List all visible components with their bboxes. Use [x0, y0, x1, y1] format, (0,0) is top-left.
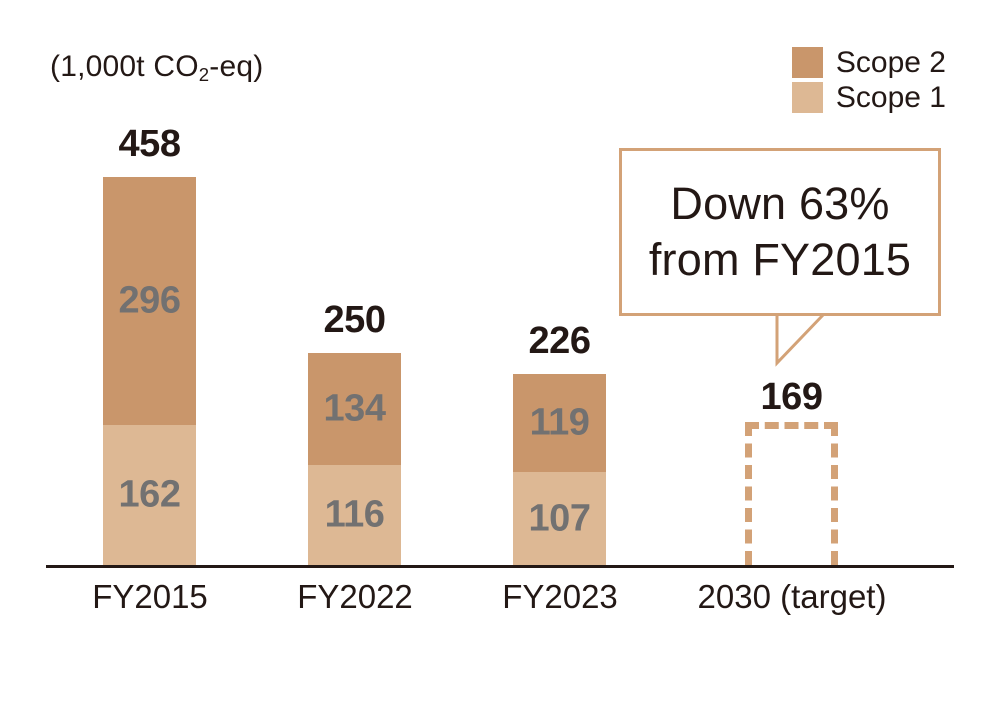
bar-total-fy2015: 458 — [78, 123, 221, 166]
unit-label-suffix: -eq) — [209, 50, 263, 83]
legend-item-scope-2: Scope 2 — [792, 47, 946, 78]
bar-total-fy2022: 250 — [283, 299, 426, 342]
callout-tail-icon — [775, 313, 845, 367]
bar-segment-value-fy2022-scope1: 116 — [308, 494, 401, 537]
callout-box: Down 63% from FY2015 — [619, 148, 941, 316]
bar-segment-value-fy2023-scope2: 119 — [513, 402, 606, 445]
bar-segment-value-fy2023-scope1: 107 — [513, 497, 606, 540]
legend: Scope 2 Scope 1 — [792, 47, 946, 113]
x-axis-label-fy2015: FY2015 — [60, 578, 240, 616]
bar-segment-fy2015-scope2: 296 — [103, 177, 196, 425]
x-axis-line — [46, 565, 954, 568]
bar-segment-fy2022-scope1: 116 — [308, 465, 401, 565]
bar-fy2022: 250 134 116 — [308, 353, 401, 565]
bar-segment-fy2023-scope1: 107 — [513, 472, 606, 565]
bar-segment-value-fy2022-scope2: 134 — [308, 388, 401, 431]
bar-total-2030-target: 169 — [720, 376, 863, 419]
bar-segment-fy2023-scope2: 119 — [513, 374, 606, 472]
bar-segment-fy2015-scope1: 162 — [103, 425, 196, 565]
legend-label-scope-1: Scope 1 — [836, 82, 946, 113]
unit-label: (1,000t CO2-eq) — [50, 50, 263, 84]
x-axis-label-fy2023: FY2023 — [470, 578, 650, 616]
bar-segment-value-fy2015-scope1: 162 — [103, 474, 196, 517]
bar-2030-target — [745, 422, 838, 565]
callout-line-2: from FY2015 — [649, 232, 911, 288]
bar-segment-value-fy2015-scope2: 296 — [103, 280, 196, 323]
legend-item-scope-1: Scope 1 — [792, 82, 946, 113]
unit-label-subscript: 2 — [199, 64, 210, 85]
emissions-chart: (1,000t CO2-eq) Scope 2 Scope 1 458 296 … — [0, 0, 1000, 717]
bar-total-fy2023: 226 — [488, 320, 631, 363]
bar-fy2015: 458 296 162 — [103, 177, 196, 565]
x-axis-label-fy2022: FY2022 — [265, 578, 445, 616]
legend-swatch-scope-2 — [792, 47, 823, 78]
unit-label-prefix: (1,000t CO — [50, 50, 199, 83]
bar-fy2023: 226 119 107 — [513, 374, 606, 565]
legend-label-scope-2: Scope 2 — [836, 47, 946, 78]
callout-line-1: Down 63% — [670, 176, 889, 232]
x-axis-label-2030-target: 2030 (target) — [672, 578, 912, 616]
legend-swatch-scope-1 — [792, 82, 823, 113]
bar-segment-fy2022-scope2: 134 — [308, 353, 401, 465]
